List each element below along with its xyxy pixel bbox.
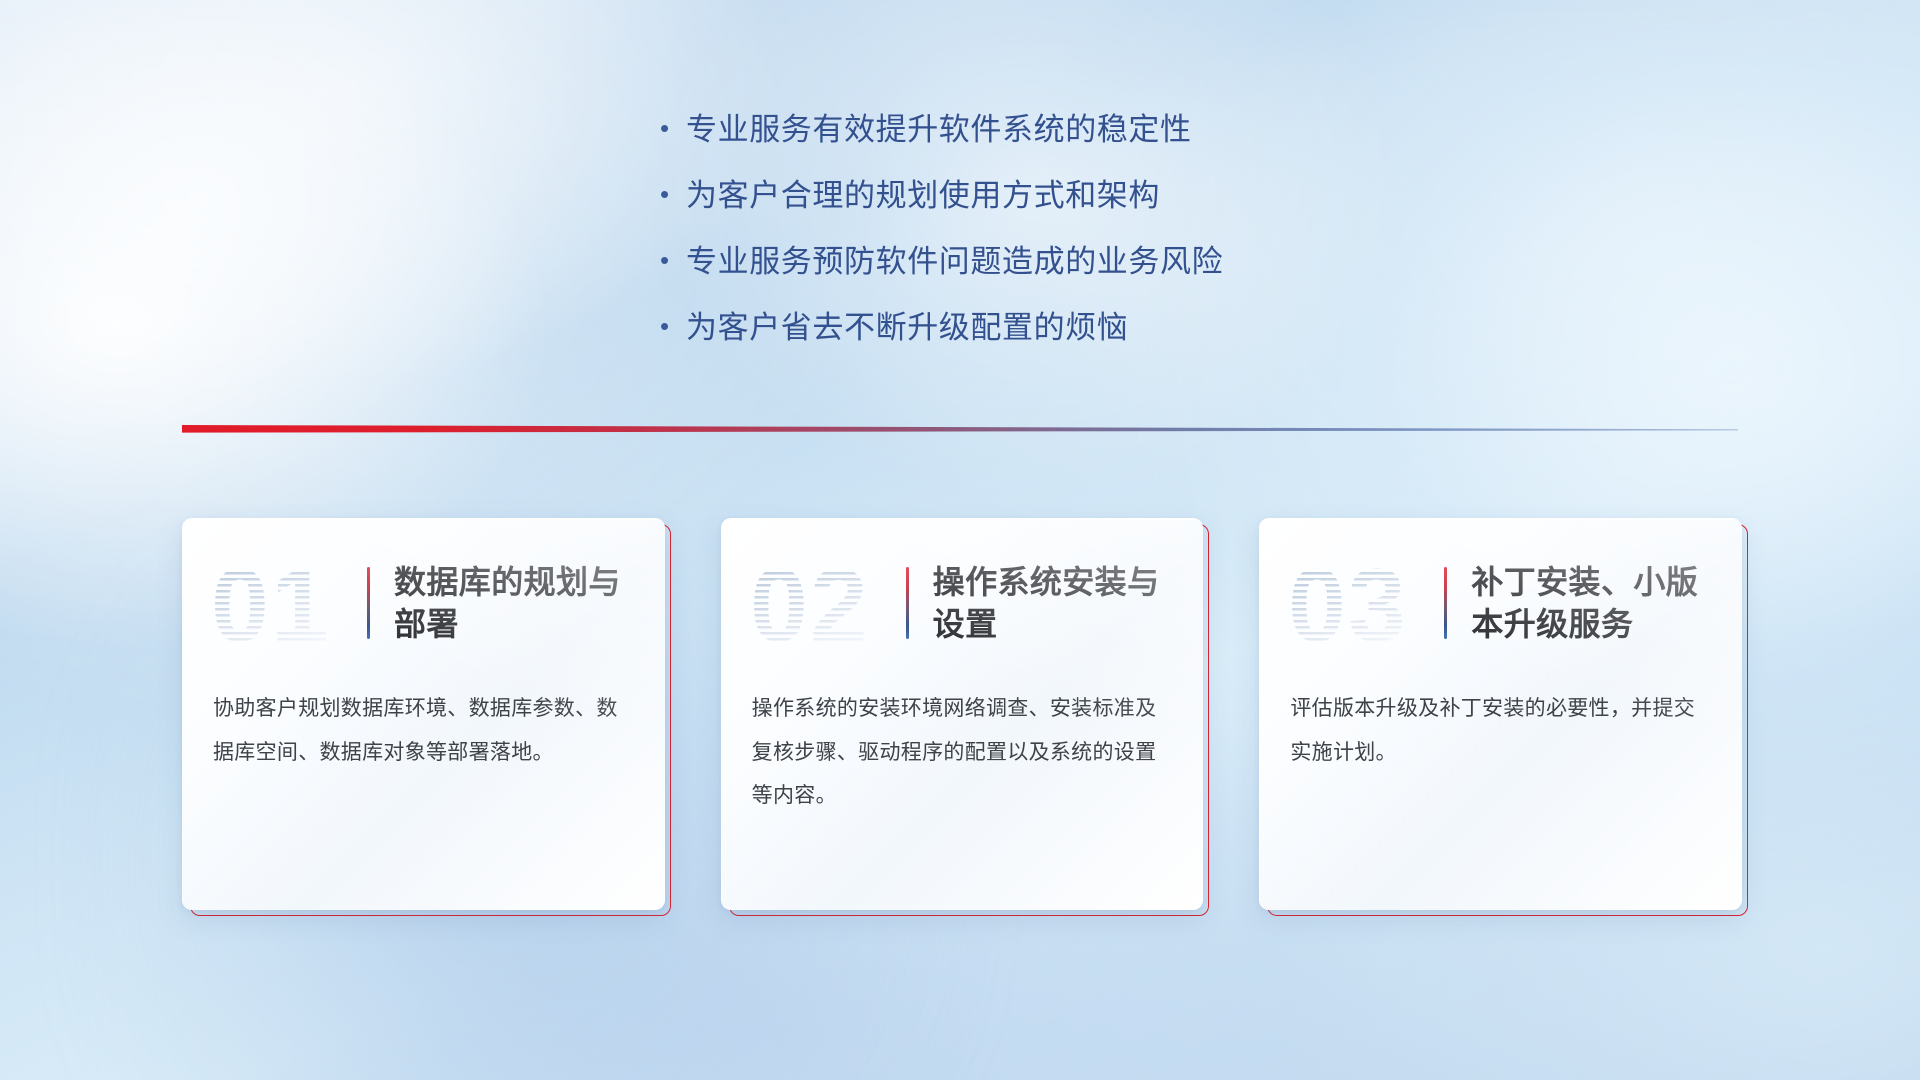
slide-canvas: • 专业服务有效提升软件系统的稳定性 • 为客户合理的规划使用方式和架构 • 专… (0, 0, 1920, 1080)
bullet-list: • 专业服务有效提升软件系统的稳定性 • 为客户合理的规划使用方式和架构 • 专… (660, 110, 1420, 374)
card-header: 03 补丁安装、小版本升级服务 (1260, 519, 1742, 687)
bullet-text: 为客户合理的规划使用方式和架构 (686, 176, 1160, 215)
card-title-divider (906, 567, 909, 639)
list-item: • 专业服务预防软件问题造成的业务风险 (660, 242, 1420, 281)
card-header: 01 数据库的规划与部署 (183, 519, 665, 687)
card-description: 评估版本升级及补丁安装的必要性，并提交实施计划。 (1260, 687, 1742, 774)
ghost-number-02-icon: 02 (748, 548, 886, 658)
bullet-dot-icon: • (660, 115, 686, 141)
card-title: 操作系统安装与设置 (933, 561, 1174, 645)
card-title-divider (1444, 567, 1447, 639)
card-03[interactable]: 03 补丁安装、小版本升级服务 评估版本升级及补丁安装的必要性，并提交实施计划。 (1259, 518, 1742, 910)
svg-text:02: 02 (750, 548, 870, 658)
bullet-dot-icon: • (660, 181, 686, 207)
card-title: 补丁安装、小版本升级服务 (1471, 561, 1712, 645)
list-item: • 为客户省去不断升级配置的烦恼 (660, 308, 1420, 347)
section-divider (182, 420, 1738, 438)
card-row: 01 数据库的规划与部署 协助客户规划数据库环境、数据库参数、数据库空间、数据库… (182, 518, 1742, 910)
bullet-dot-icon: • (660, 247, 686, 273)
bullet-text: 为客户省去不断升级配置的烦恼 (686, 308, 1128, 347)
card-surface: 02 操作系统安装与设置 操作系统的安装环境网络调查、安装标准及复核步骤、驱动程… (721, 518, 1204, 910)
svg-text:03: 03 (1288, 548, 1408, 658)
card-surface: 03 补丁安装、小版本升级服务 评估版本升级及补丁安装的必要性，并提交实施计划。 (1259, 518, 1742, 910)
card-title: 数据库的规划与部署 (394, 561, 635, 645)
bullet-text: 专业服务预防软件问题造成的业务风险 (686, 242, 1223, 281)
bullet-text: 专业服务有效提升软件系统的稳定性 (686, 110, 1192, 149)
card-description: 协助客户规划数据库环境、数据库参数、数据库空间、数据库对象等部署落地。 (183, 687, 665, 774)
card-02[interactable]: 02 操作系统安装与设置 操作系统的安装环境网络调查、安装标准及复核步骤、驱动程… (721, 518, 1204, 910)
card-01[interactable]: 01 数据库的规划与部署 协助客户规划数据库环境、数据库参数、数据库空间、数据库… (182, 518, 665, 910)
ghost-number-01-icon: 01 (209, 548, 347, 658)
bullet-dot-icon: • (660, 313, 686, 339)
list-item: • 专业服务有效提升软件系统的稳定性 (660, 110, 1420, 149)
list-item: • 为客户合理的规划使用方式和架构 (660, 176, 1420, 215)
card-surface: 01 数据库的规划与部署 协助客户规划数据库环境、数据库参数、数据库空间、数据库… (182, 518, 665, 910)
ghost-number-03-icon: 03 (1286, 548, 1424, 658)
svg-text:01: 01 (211, 548, 331, 658)
card-header: 02 操作系统安装与设置 (722, 519, 1204, 687)
card-description: 操作系统的安装环境网络调查、安装标准及复核步骤、驱动程序的配置以及系统的设置等内… (722, 687, 1204, 818)
card-title-divider (367, 567, 370, 639)
